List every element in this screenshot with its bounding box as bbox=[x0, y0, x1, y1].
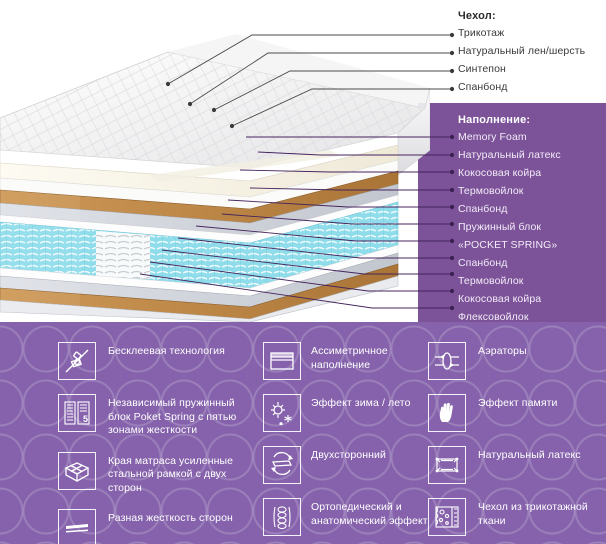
feature-label: Бесклеевая технология bbox=[108, 342, 225, 359]
filling-item-5: Пружинный блок bbox=[458, 218, 561, 236]
features-column-3: Аэраторы Эффект памяти bbox=[428, 342, 603, 544]
feature-aerators: Аэраторы bbox=[428, 342, 603, 380]
feature-different-firmness: Разная жесткость сторон bbox=[58, 509, 258, 544]
svg-text:5: 5 bbox=[83, 414, 88, 424]
feature-asymmetric-filling: Ассиметричное наполнение bbox=[263, 342, 433, 380]
feature-winter-summer: Эффект зима / лето bbox=[263, 394, 433, 432]
feature-label: Аэраторы bbox=[478, 342, 527, 359]
feature-label: Независимый пружинный блок Poket Spring … bbox=[108, 394, 258, 438]
filling-item-0: Memory Foam bbox=[458, 128, 561, 146]
spring-block-five-zones-icon: 5 bbox=[58, 394, 96, 432]
aerators-icon bbox=[428, 342, 466, 380]
feature-label: Эффект памяти bbox=[478, 394, 558, 411]
cover-item-1: Натуральный лен/шерсть bbox=[458, 42, 585, 60]
filling-item-7: Спанбонд bbox=[458, 254, 561, 272]
cover-item-3: Спанбонд bbox=[458, 78, 585, 96]
natural-latex-icon bbox=[428, 446, 466, 484]
filling-item-3: Термовойлок bbox=[458, 182, 561, 200]
filling-item-4: Спанбонд bbox=[458, 200, 561, 218]
feature-double-sided: Двухсторонний bbox=[263, 446, 433, 484]
filling-label-group: Наполнение: Memory Foam Натуральный лате… bbox=[458, 112, 561, 326]
double-sided-icon bbox=[263, 446, 301, 484]
filling-item-6: «POCKET SPRING» bbox=[458, 236, 561, 254]
cover-item-2: Синтепон bbox=[458, 60, 585, 78]
winter-summer-icon bbox=[263, 394, 301, 432]
no-glue-icon bbox=[58, 342, 96, 380]
feature-natural-latex: Натуральный латекс bbox=[428, 446, 603, 484]
filling-item-9: Кокосовая койра bbox=[458, 290, 561, 308]
feature-label: Чехол из трикотажной ткани bbox=[478, 498, 603, 528]
feature-label: Ассиметричное наполнение bbox=[311, 342, 433, 372]
mattress-infographic: Чехол: Трикотаж Натуральный лен/шерсть С… bbox=[0, 0, 606, 544]
cover-label-group: Чехол: Трикотаж Натуральный лен/шерсть С… bbox=[458, 8, 585, 96]
features-column-1: Бесклеевая технология 5 Независимый пру bbox=[58, 342, 258, 544]
feature-spring-block: 5 Независимый пружинный блок Poket Sprin… bbox=[58, 394, 258, 438]
features-grid: Бесклеевая технология 5 Независимый пру bbox=[0, 322, 606, 544]
feature-knitted-cover: Чехол из трикотажной ткани bbox=[428, 498, 603, 536]
feature-label: Ортопедический и анатомический эффект bbox=[311, 498, 433, 528]
knitted-cover-icon bbox=[428, 498, 466, 536]
cover-item-0: Трикотаж bbox=[458, 24, 585, 42]
features-column-2: Ассиметричное наполнение Эффект зима / л… bbox=[263, 342, 433, 544]
cover-heading: Чехол: bbox=[458, 8, 585, 24]
filling-heading: Наполнение: bbox=[458, 112, 561, 128]
feature-no-glue: Бесклеевая технология bbox=[58, 342, 258, 380]
feature-label: Эффект зима / лето bbox=[311, 394, 411, 411]
feature-orthopedic: Ортопедический и анатомический эффект bbox=[263, 498, 433, 536]
filling-item-1: Натуральный латекс bbox=[458, 146, 561, 164]
feature-memory-effect: Эффект памяти bbox=[428, 394, 603, 432]
filling-item-2: Кокосовая койра bbox=[458, 164, 561, 182]
different-firmness-icon bbox=[58, 509, 96, 544]
memory-effect-hand-icon bbox=[428, 394, 466, 432]
feature-label: Края матраса усиленные стальной рамкой с… bbox=[108, 452, 258, 496]
orthopedic-anatomic-icon bbox=[263, 498, 301, 536]
feature-label: Двухсторонний bbox=[311, 446, 386, 463]
feature-label: Натуральный латекс bbox=[478, 446, 581, 463]
feature-steel-frame: Края матраса усиленные стальной рамкой с… bbox=[58, 452, 258, 496]
asymmetric-filling-icon bbox=[263, 342, 301, 380]
filling-item-8: Термовойлок bbox=[458, 272, 561, 290]
feature-label: Разная жесткость сторон bbox=[108, 509, 233, 526]
steel-frame-edges-icon bbox=[58, 452, 96, 490]
